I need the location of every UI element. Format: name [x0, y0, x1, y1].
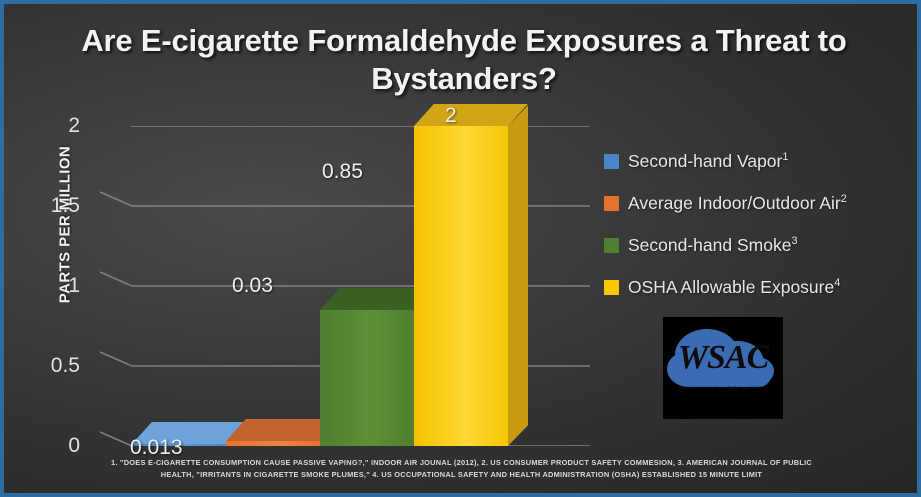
footnotes: 1. "DOES E-CIGARETTE CONSUMPTION CAUSE P…	[44, 457, 879, 481]
legend-item-second-hand-vapor[interactable]: Second-hand Vapor1	[604, 140, 904, 182]
bar-second-hand-smoke[interactable]	[320, 310, 414, 446]
footnote-line-1: 1. "DOES E-CIGARETTE CONSUMPTION CAUSE P…	[44, 457, 879, 469]
bar-front-face	[226, 441, 320, 446]
bar-side-face	[508, 105, 528, 446]
legend-swatch-icon	[604, 280, 619, 295]
bar-value-label-smoke: 0.85	[322, 160, 363, 184]
wsac-logo: WSAC Wisconsin Smoke-free Alternatives C…	[663, 317, 783, 419]
legend-footnote-marker: 1	[782, 151, 788, 163]
bar-osha-allowable-exposure[interactable]	[414, 126, 508, 446]
legend-label: OSHA Allowable Exposure4	[628, 277, 840, 298]
logo-tagline: Wisconsin Smoke-free Alternatives Coalit…	[663, 385, 783, 390]
bar-front-face	[320, 310, 414, 446]
legend-footnote-marker: 4	[834, 277, 840, 289]
chart-legend: Second-hand Vapor1 Average Indoor/Outdoo…	[604, 140, 904, 308]
y-tick-1: 1	[26, 274, 80, 298]
legend-item-second-hand-smoke[interactable]: Second-hand Smoke3	[604, 224, 904, 266]
bar-front-face	[414, 126, 508, 446]
legend-swatch-icon	[604, 154, 619, 169]
legend-item-average-indoor-outdoor-air[interactable]: Average Indoor/Outdoor Air2	[604, 182, 904, 224]
legend-item-osha-allowable-exposure[interactable]: OSHA Allowable Exposure4	[604, 266, 904, 308]
legend-swatch-icon	[604, 196, 619, 211]
legend-label: Average Indoor/Outdoor Air2	[628, 193, 847, 214]
logo-wordmark: WSAC	[663, 339, 783, 377]
y-tick-0-5: 0.5	[26, 354, 80, 378]
legend-label: Second-hand Smoke3	[628, 235, 798, 256]
legend-swatch-icon	[604, 238, 619, 253]
legend-footnote-marker: 3	[791, 235, 797, 247]
footnote-line-2: HEALTH, "IRRITANTS IN CIGARETTE SMOKE PL…	[44, 469, 879, 481]
slide-canvas: Are E-cigarette Formaldehyde Exposures a…	[0, 0, 921, 497]
page-title: Are E-cigarette Formaldehyde Exposures a…	[64, 22, 864, 98]
legend-footnote-marker: 2	[841, 193, 847, 205]
chart-plot-area: 0.013 0.03 0.85 2	[100, 126, 590, 446]
legend-label: Second-hand Vapor1	[628, 151, 789, 172]
y-axis-ticks: 2 1.5 1 0.5 0	[22, 126, 80, 446]
bar-average-indoor-outdoor-air[interactable]	[226, 441, 320, 446]
y-tick-0: 0	[26, 434, 80, 458]
y-tick-2: 2	[26, 114, 80, 138]
bar-value-label-air: 0.03	[232, 274, 273, 298]
y-tick-1-5: 1.5	[26, 194, 80, 218]
bar-value-label-osha: 2	[445, 104, 457, 128]
